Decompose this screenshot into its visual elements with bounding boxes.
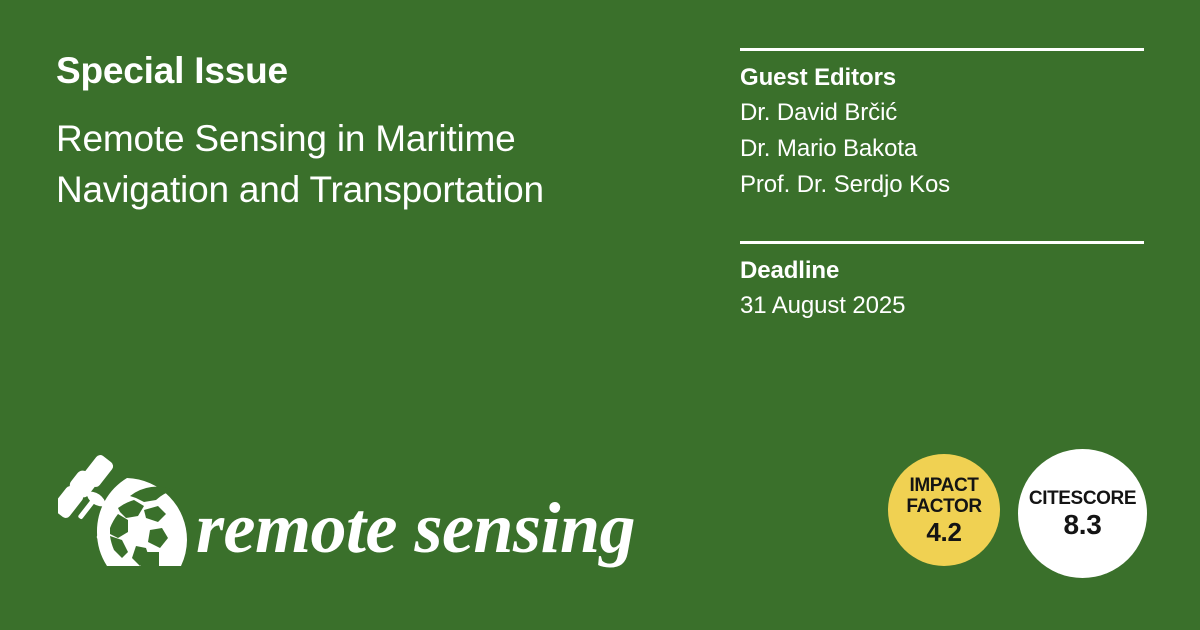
divider-top: [740, 48, 1144, 51]
deadline-heading: Deadline: [740, 256, 1144, 286]
guest-editors-heading: Guest Editors: [740, 63, 1144, 93]
citescore-badge: CITESCORE 8.3: [1018, 449, 1147, 578]
special-issue-poster: Special Issue Remote Sensing in Maritime…: [0, 0, 1200, 630]
list-item: Prof. Dr. Serdjo Kos: [740, 167, 1144, 203]
impact-factor-badge: IMPACT FACTOR 4.2: [888, 454, 1000, 566]
list-item: Dr. David Brčić: [740, 95, 1144, 131]
special-issue-label: Special Issue: [56, 48, 706, 94]
page-title-line-2: Navigation and Transportation: [56, 164, 706, 215]
guest-editors-list: Dr. David Brčić Dr. Mario Bakota Prof. D…: [740, 95, 1144, 203]
satellite-globe-icon: [58, 452, 190, 592]
page-title: Remote Sensing in Maritime Navigation an…: [56, 113, 706, 215]
journal-name: remote sensing: [196, 492, 635, 564]
impact-factor-label-line-2: FACTOR: [906, 496, 981, 517]
divider-bottom: [740, 241, 1144, 244]
citescore-label: CITESCORE: [1029, 488, 1136, 509]
citescore-value: 8.3: [1063, 511, 1101, 539]
special-issue-heading-block: Special Issue Remote Sensing in Maritime…: [56, 48, 706, 215]
impact-factor-label-line-1: IMPACT: [909, 475, 978, 496]
list-item: Dr. Mario Bakota: [740, 131, 1144, 167]
deadline-block: Deadline 31 August 2025: [740, 256, 1144, 324]
deadline-date: 31 August 2025: [740, 288, 1144, 324]
info-panel: Guest Editors Dr. David Brčić Dr. Mario …: [740, 48, 1144, 324]
journal-logo: remote sensing: [58, 452, 635, 592]
page-title-line-1: Remote Sensing in Maritime: [56, 113, 706, 164]
impact-factor-value: 4.2: [926, 518, 961, 546]
guest-editors-block: Guest Editors Dr. David Brčić Dr. Mario …: [740, 63, 1144, 203]
